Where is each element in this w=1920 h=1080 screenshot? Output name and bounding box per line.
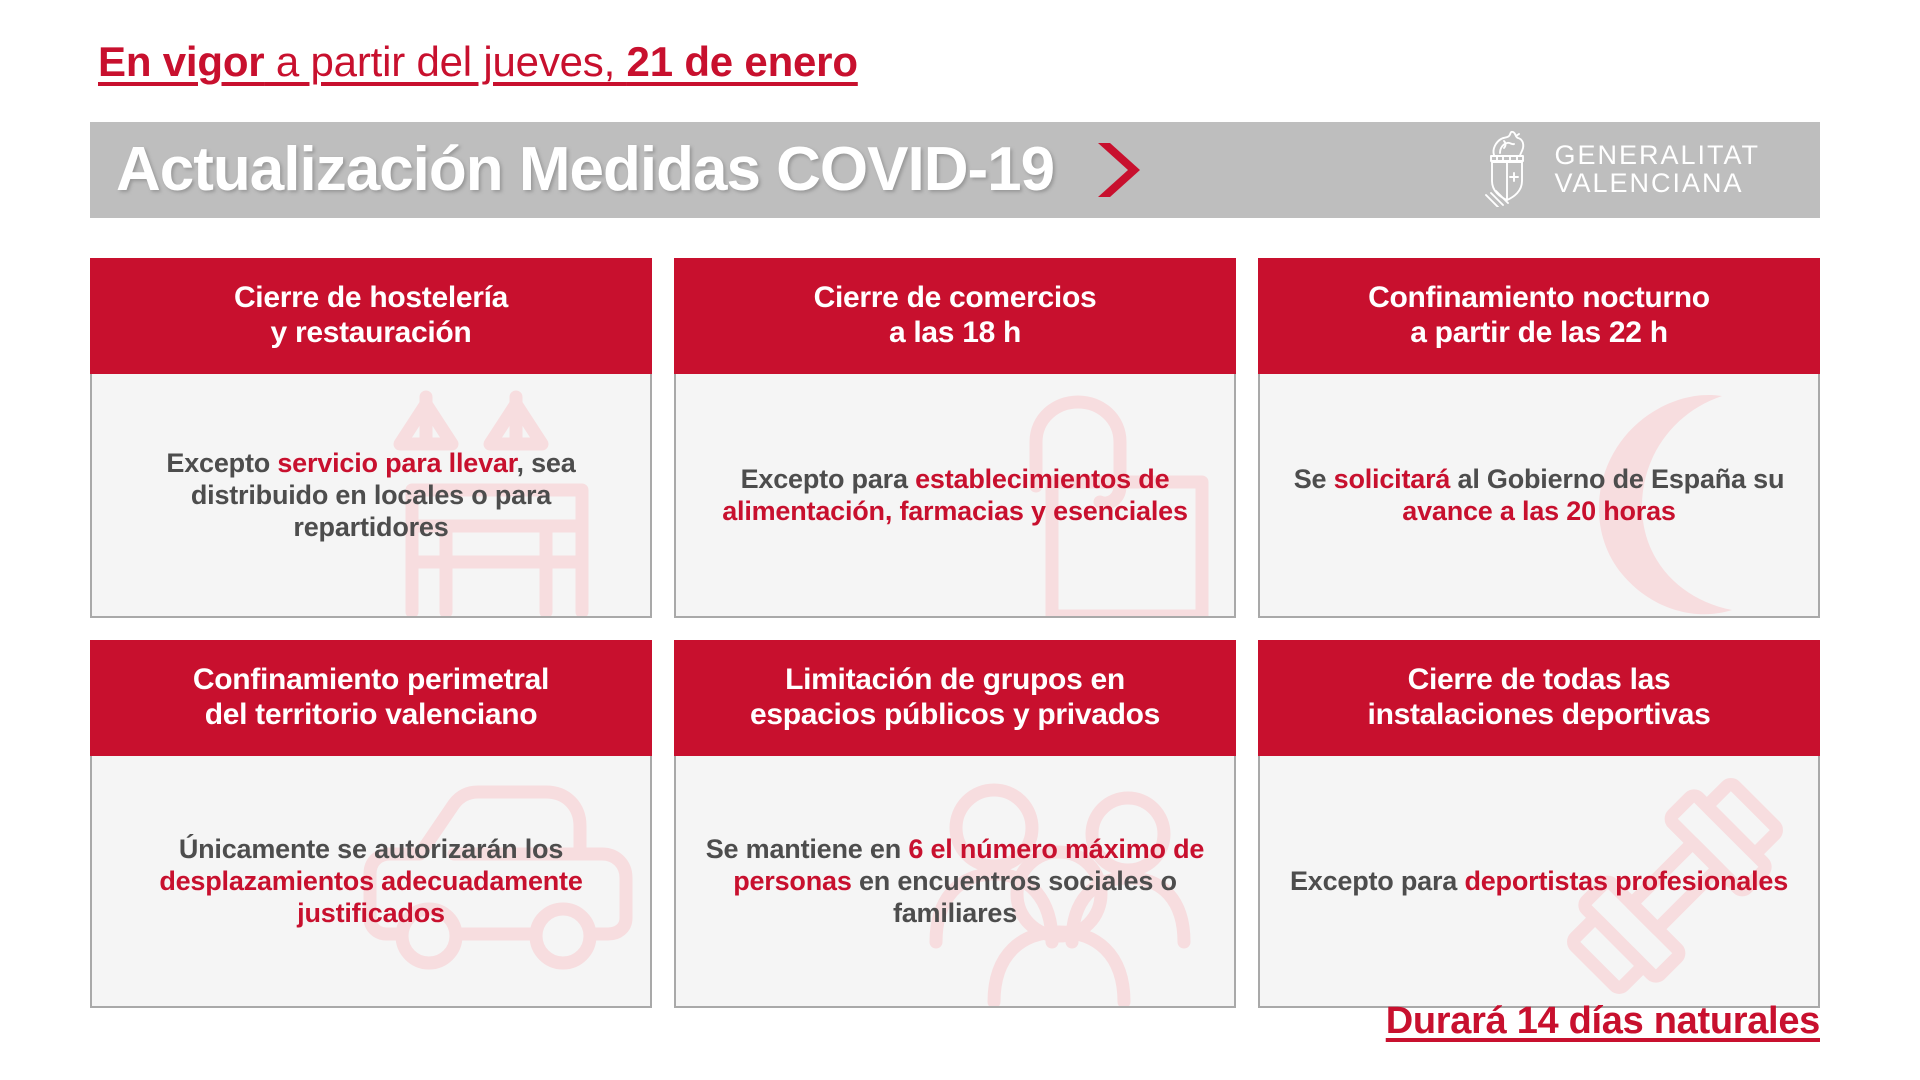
body-segment-0: Se mantiene en: [706, 834, 909, 864]
card-body-text: Únicamente se autorizarán los desplazami…: [92, 833, 650, 930]
card-title-line-1: Cierre de hostelería: [102, 280, 640, 315]
card-header: Cierre de comercios a las 18 h: [674, 258, 1236, 374]
headline-bold-date: 21 de enero: [627, 38, 858, 85]
card-body-text: Se mantiene en 6 el número máximo de per…: [676, 833, 1234, 930]
card-title-line-2: a las 18 h: [686, 315, 1224, 350]
footer-duration-note: Durará 14 días naturales: [1386, 1000, 1820, 1043]
measures-grid: Cierre de hostelería y restauración: [90, 258, 1820, 1008]
headline-bold-prefix: En vigor: [98, 38, 264, 85]
card-header: Cierre de hostelería y restauración: [90, 258, 652, 374]
logo-line-2: VALENCIANA: [1554, 170, 1760, 198]
body-segment-3: avance a las 20 horas: [1402, 496, 1676, 526]
measure-card-confinamiento-nocturno: Confinamiento nocturno a partir de las 2…: [1258, 258, 1820, 618]
card-title-line-2: espacios públicos y privados: [686, 697, 1224, 732]
measure-card-confinamiento-perimetral: Confinamiento perimetral del territorio …: [90, 640, 652, 1008]
card-title-line-1: Limitación de grupos en: [686, 662, 1224, 697]
card-body-text: Excepto para establecimientos de aliment…: [676, 463, 1234, 528]
chevron-right-icon: [1092, 139, 1146, 201]
card-body-text: Excepto servicio para llevar, sea distri…: [92, 447, 650, 544]
measure-card-cierre-hosteleria: Cierre de hostelería y restauración: [90, 258, 652, 618]
headline-middle: a partir del jueves,: [264, 38, 626, 85]
card-header: Confinamiento nocturno a partir de las 2…: [1258, 258, 1820, 374]
card-header: Confinamiento perimetral del territorio …: [90, 640, 652, 756]
body-segment-1: desplazamientos adecuadamente justificad…: [159, 866, 582, 928]
card-body-text: Excepto para deportistas profesionales: [1268, 865, 1810, 897]
measure-card-limitacion-grupos: Limitación de grupos en espacios público…: [674, 640, 1236, 1008]
page-title: Actualización Medidas COVID-19: [116, 139, 1054, 201]
header-band: Actualización Medidas COVID-19: [90, 122, 1820, 218]
card-title-line-2: del territorio valenciano: [102, 697, 640, 732]
body-segment-1: servicio para llevar: [277, 448, 516, 478]
body-segment-2: al Gobierno de España su: [1450, 464, 1784, 494]
card-body: Excepto para deportistas profesionales: [1258, 756, 1820, 1008]
card-title-line-1: Confinamiento nocturno: [1270, 280, 1808, 315]
logo-line-1: GENERALITAT: [1554, 142, 1760, 170]
card-body-text: Se solicitará al Gobierno de España su a…: [1260, 463, 1818, 528]
card-title-line-2: instalaciones deportivas: [1270, 697, 1808, 732]
card-body: Se mantiene en 6 el número máximo de per…: [674, 756, 1236, 1008]
card-title-line-1: Confinamiento perimetral: [102, 662, 640, 697]
logo-wordmark: GENERALITAT VALENCIANA: [1554, 142, 1760, 197]
body-segment-0: Excepto para: [1290, 866, 1464, 896]
body-segment-1: solicitará: [1334, 464, 1451, 494]
card-body: Excepto para establecimientos de aliment…: [674, 374, 1236, 618]
card-title-line-2: a partir de las 22 h: [1270, 315, 1808, 350]
generalitat-crest-icon: [1476, 129, 1538, 212]
card-title-line-2: y restauración: [102, 315, 640, 350]
card-body: Excepto servicio para llevar, sea distri…: [90, 374, 652, 618]
card-title-line-1: Cierre de todas las: [1270, 662, 1808, 697]
body-segment-0: Excepto: [166, 448, 277, 478]
measure-card-cierre-deportivas: Cierre de todas las instalaciones deport…: [1258, 640, 1820, 1008]
card-body: Se solicitará al Gobierno de España su a…: [1258, 374, 1820, 618]
card-title-line-1: Cierre de comercios: [686, 280, 1224, 315]
body-segment-0: Únicamente se autorizarán los: [179, 834, 563, 864]
body-segment-0: Excepto para: [741, 464, 915, 494]
card-header: Cierre de todas las instalaciones deport…: [1258, 640, 1820, 756]
measure-card-cierre-comercios: Cierre de comercios a las 18 h Excepto p…: [674, 258, 1236, 618]
body-segment-0: Se: [1294, 464, 1334, 494]
card-body: Únicamente se autorizarán los desplazami…: [90, 756, 652, 1008]
body-segment-1: deportistas profesionales: [1464, 866, 1788, 896]
body-segment-2: en encuentros sociales o familiares: [852, 866, 1177, 928]
headline-in-effect: En vigor a partir del jueves, 21 de ener…: [98, 38, 858, 86]
card-header: Limitación de grupos en espacios público…: [674, 640, 1236, 756]
generalitat-valenciana-logo: GENERALITAT VALENCIANA: [1476, 129, 1760, 212]
